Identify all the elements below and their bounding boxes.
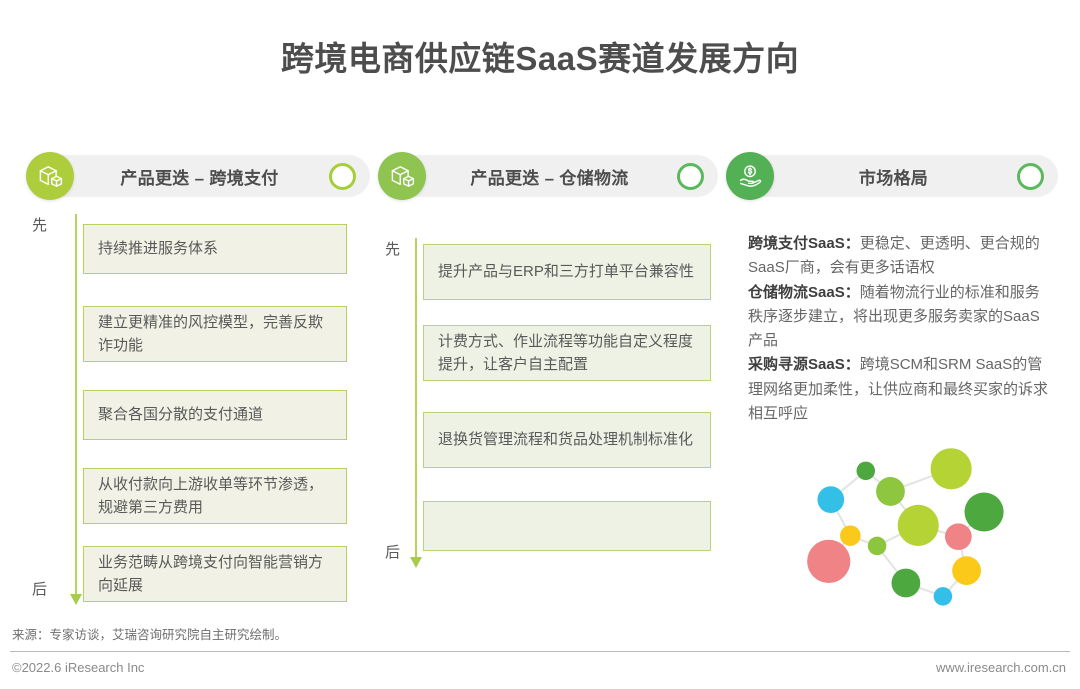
list-item-text: 从收付款向上游收单等环节渗透，规避第三方费用 xyxy=(98,473,332,520)
market-landscape-text: 跨境支付SaaS：更稳定、更透明、更合规的SaaS厂商，会有更多话语权 仓储物流… xyxy=(748,232,1053,426)
column-header-label: 产品更迭 – 仓储物流 xyxy=(396,164,677,189)
network-node xyxy=(965,492,1004,531)
list-item-text: 持续推进服务体系 xyxy=(98,237,218,260)
network-node xyxy=(840,525,861,546)
list-item-text: 退换货管理流程和货品处理机制标准化 xyxy=(438,428,693,451)
network-node xyxy=(876,477,905,506)
package-box-icon xyxy=(26,152,74,200)
list-item[interactable]: 业务范畴从跨境支付向智能营销方向延展 xyxy=(83,546,347,602)
paragraph-label: 跨境支付SaaS： xyxy=(748,235,860,252)
list-item-text: 业务范畴从跨境支付向智能营销方向延展 xyxy=(98,551,332,598)
list-item[interactable]: 建立更精准的风控模型，完善反欺诈功能 xyxy=(83,306,347,362)
column-header-label: 产品更迭 – 跨境支付 xyxy=(44,164,329,189)
list-item-text: 建立更精准的风控模型，完善反欺诈功能 xyxy=(98,311,332,358)
flow-start-label-col2: 先 xyxy=(385,238,400,259)
column-header-market-landscape: 市场格局 xyxy=(726,155,1058,197)
column-header-cross-border-payment: 产品更迭 – 跨境支付 xyxy=(26,155,370,197)
source-note: 来源：专家访谈，艾瑞咨询研究院自主研究绘制。 xyxy=(12,624,287,643)
column-header-pill[interactable]: 市场格局 xyxy=(744,155,1058,197)
network-node xyxy=(898,505,939,546)
flow-line-col1 xyxy=(75,214,77,597)
flow-start-label-col1: 先 xyxy=(32,214,47,235)
paragraph-warehouse-logistics: 仓储物流SaaS：随着物流行业的标准和服务秩序逐步建立，将出现更多服务卖家的Sa… xyxy=(748,281,1053,354)
website-link[interactable]: www.iresearch.com.cn xyxy=(936,660,1066,675)
list-item[interactable] xyxy=(423,501,711,551)
list-item-text: 聚合各国分散的支付通道 xyxy=(98,403,263,426)
network-node xyxy=(891,569,920,598)
hand-coin-icon xyxy=(726,152,774,200)
list-item[interactable]: 持续推进服务体系 xyxy=(83,224,347,274)
column-header-label: 市场格局 xyxy=(744,164,1017,189)
flow-end-label-col1: 后 xyxy=(32,578,47,599)
list-item[interactable]: 聚合各国分散的支付通道 xyxy=(83,390,347,440)
list-item[interactable]: 计费方式、作业流程等功能自定义程度提升，让客户自主配置 xyxy=(423,325,711,381)
page-title: 跨境电商供应链SaaS赛道发展方向 xyxy=(0,32,1080,80)
copyright-text: ©2022.6 iResearch Inc xyxy=(12,660,144,675)
network-node xyxy=(807,540,850,583)
paragraph-label: 仓储物流SaaS： xyxy=(748,284,860,301)
package-box-icon xyxy=(378,152,426,200)
network-node xyxy=(868,537,887,556)
network-node xyxy=(945,523,972,550)
paragraph-procurement-sourcing: 采购寻源SaaS：跨境SCM和SRM SaaS的管理网络更加柔性，让供应商和最终… xyxy=(748,353,1053,426)
paragraph-cross-border-payment: 跨境支付SaaS：更稳定、更透明、更合规的SaaS厂商，会有更多话语权 xyxy=(748,232,1053,281)
network-graphic xyxy=(795,440,1025,620)
footer-divider xyxy=(10,651,1070,652)
list-item[interactable]: 从收付款向上游收单等环节渗透，规避第三方费用 xyxy=(83,468,347,524)
network-node xyxy=(857,462,876,481)
flow-end-label-col2: 后 xyxy=(385,541,400,562)
status-ring-icon xyxy=(1017,163,1044,190)
flow-arrow-col1 xyxy=(70,594,82,605)
flow-line-col2 xyxy=(415,238,417,560)
status-ring-icon xyxy=(677,163,704,190)
list-item-text: 计费方式、作业流程等功能自定义程度提升，让客户自主配置 xyxy=(438,330,696,377)
column-header-warehouse-logistics: 产品更迭 – 仓储物流 xyxy=(378,155,718,197)
column-header-pill[interactable]: 产品更迭 – 跨境支付 xyxy=(44,155,370,197)
column-header-pill[interactable]: 产品更迭 – 仓储物流 xyxy=(396,155,718,197)
network-node xyxy=(931,448,972,489)
status-ring-icon xyxy=(329,163,356,190)
list-item[interactable]: 退换货管理流程和货品处理机制标准化 xyxy=(423,412,711,468)
network-node xyxy=(817,486,844,513)
network-node xyxy=(952,556,981,585)
flow-arrow-col2 xyxy=(410,557,422,568)
paragraph-label: 采购寻源SaaS： xyxy=(748,356,860,373)
list-item[interactable]: 提升产品与ERP和三方打单平台兼容性 xyxy=(423,244,711,300)
network-node xyxy=(934,587,953,606)
list-item-text: 提升产品与ERP和三方打单平台兼容性 xyxy=(438,260,694,283)
